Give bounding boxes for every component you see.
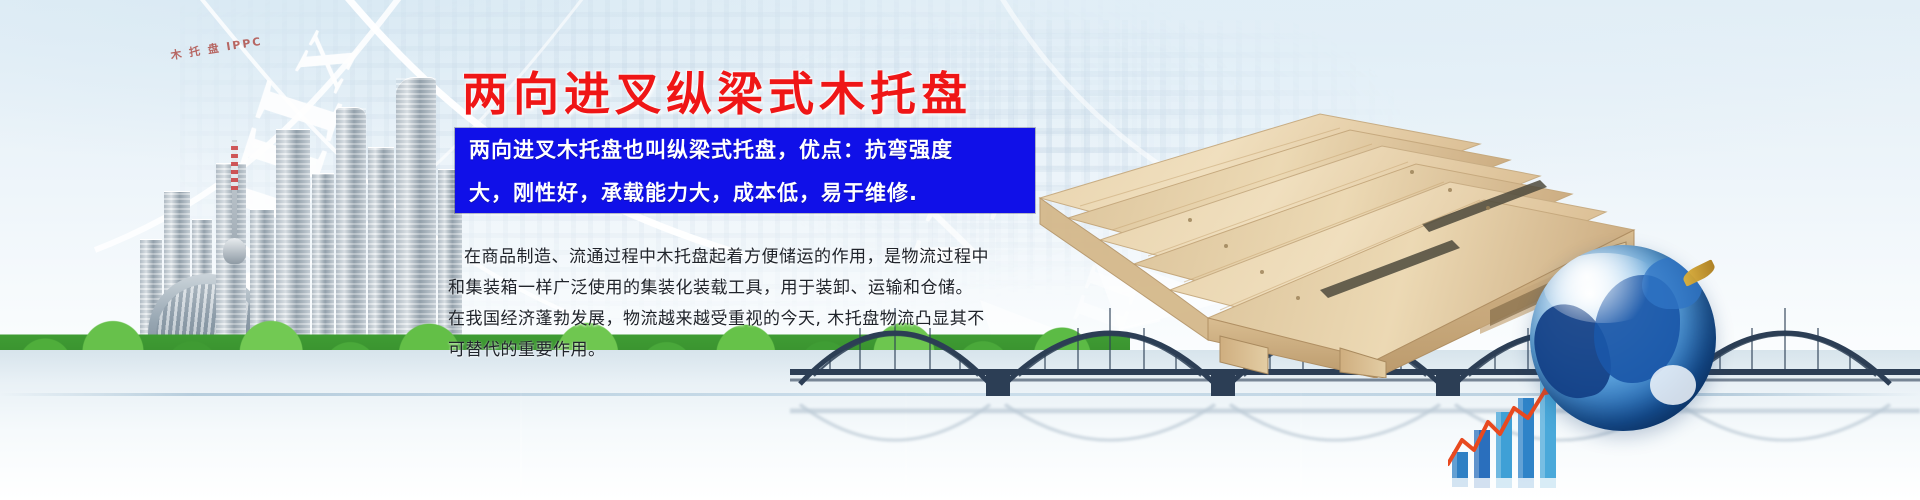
body-line-2: 和集装箱一样广泛使用的集装化装载工具，用于装卸、运输和仓储。 <box>448 277 1088 299</box>
callout-box: 两向进叉木托盘也叫纵梁式托盘，优点：抗弯强度 大，刚性好，承载能力大，成本低，易… <box>455 128 1035 213</box>
body-line-1: 在商品制造、流通过程中木托盘起着方便储运的作用，是物流过程中 <box>448 246 1088 268</box>
page-title: 两向进叉纵梁式木托盘 <box>462 58 972 124</box>
callout-line-1: 两向进叉木托盘也叫纵梁式托盘，优点：抗弯强度 <box>455 128 1035 171</box>
body-paragraph: 在商品制造、流通过程中木托盘起着方便储运的作用，是物流过程中 和集装箱一样广泛使… <box>448 246 1088 370</box>
globe-highlight <box>1544 253 1664 323</box>
product-banner: VIII X VI II <box>0 0 1920 500</box>
callout-line-2: 大，刚性好，承载能力大，成本低，易于维修. <box>455 171 1035 214</box>
body-line-4: 可替代的重要作用。 <box>448 339 1088 361</box>
bridge-reflection <box>790 395 1920 490</box>
body-line-3: 在我国经济蓬勃发展，物流越来越受重视的今天, 木托盘物流凸显其不 <box>448 308 1088 330</box>
polar-ice-shape <box>1650 365 1696 405</box>
